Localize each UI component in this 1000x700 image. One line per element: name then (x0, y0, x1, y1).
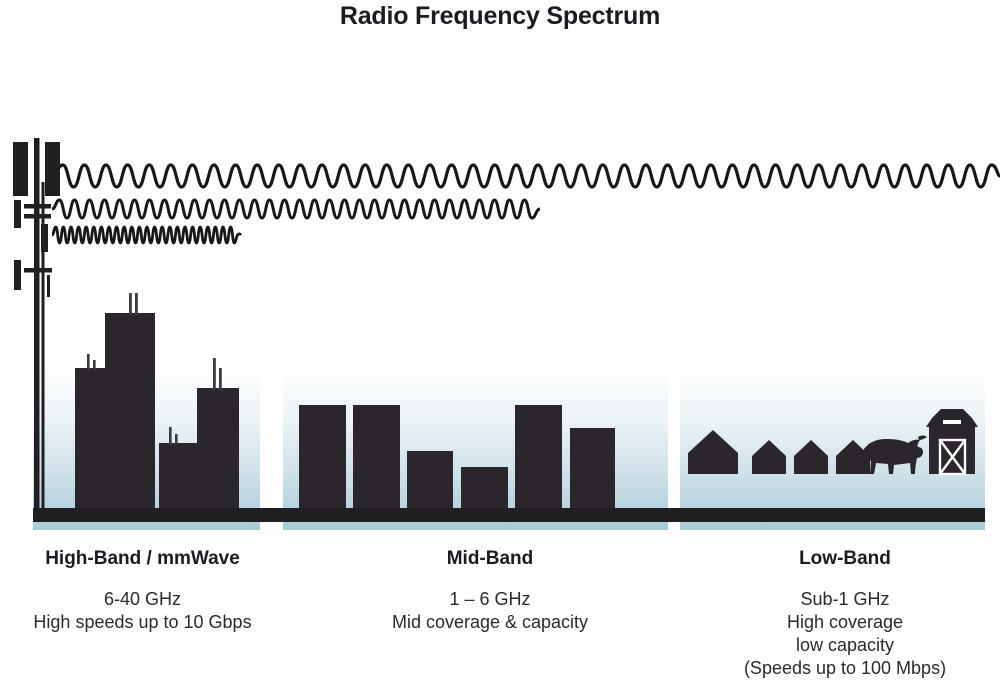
barn-loft-window (943, 420, 961, 424)
tower-crossarm-upper (24, 204, 51, 209)
antenna-panel-third (41, 224, 48, 252)
building-antenna (135, 293, 138, 315)
antenna-panel-fourth (14, 260, 21, 290)
building-antenna (93, 360, 96, 370)
building-antenna (129, 293, 132, 315)
band-caption-mid: Mid-Band 1 – 6 GHz Mid coverage & capaci… (300, 548, 680, 633)
page-title: Radio Frequency Spectrum (0, 2, 1000, 31)
farm-house (752, 440, 786, 474)
midrise-building (461, 467, 508, 508)
building-antenna (169, 427, 172, 445)
mid-frequency-wave (52, 200, 540, 218)
midrise-building (407, 451, 453, 508)
band-spec-low-1: High coverage (690, 612, 1000, 633)
tower-crossarm-upper-2 (24, 214, 51, 219)
midrise-building (299, 405, 346, 508)
band-heading-mid: Mid-Band (300, 548, 680, 570)
antenna-panel-top-right (45, 142, 60, 196)
band-caption-low: Low-Band Sub-1 GHz High coverage low cap… (690, 548, 1000, 679)
midrise-building (353, 405, 400, 508)
band-spec-high-0: 6-40 GHz (0, 589, 285, 610)
skyline-building (197, 388, 239, 508)
skyline-building (105, 313, 155, 508)
band-spec-low-2: low capacity (690, 635, 1000, 656)
building-antenna (213, 358, 216, 390)
scenery-low-band (680, 293, 985, 508)
illustration-stage (0, 120, 1000, 530)
scenery-high-band (33, 293, 260, 508)
cow (861, 436, 927, 475)
midrise-building (570, 428, 615, 508)
band-spec-high-1: High speeds up to 10 Gbps (0, 612, 285, 633)
low-frequency-wave (52, 165, 1000, 187)
building-antenna (87, 354, 90, 370)
band-heading-low: Low-Band (690, 548, 1000, 570)
building-antenna (175, 434, 178, 445)
radio-waves-group (0, 120, 1000, 250)
farm-house (794, 440, 828, 474)
farm-house (688, 430, 738, 474)
midrise-building (515, 405, 562, 508)
antenna-panel-top-left (13, 142, 28, 196)
skyline-building (159, 443, 197, 508)
infographic-root: Radio Frequency Spectrum (0, 0, 1000, 700)
band-caption-high: High-Band / mmWave 6-40 GHz High speeds … (0, 548, 285, 633)
band-spec-low-3: (Speeds up to 100 Mbps) (690, 658, 1000, 679)
building-antenna (219, 368, 222, 390)
band-spec-low-0: Sub-1 GHz (690, 589, 1000, 610)
band-heading-high: High-Band / mmWave (0, 548, 285, 570)
scenery-mid-band (283, 293, 668, 508)
band-spec-mid-0: 1 – 6 GHz (300, 589, 680, 610)
tower-crossarm-lower (24, 268, 52, 273)
ground-line (33, 508, 985, 522)
antenna-panel-second (14, 200, 21, 228)
band-spec-mid-1: Mid coverage & capacity (300, 612, 680, 633)
